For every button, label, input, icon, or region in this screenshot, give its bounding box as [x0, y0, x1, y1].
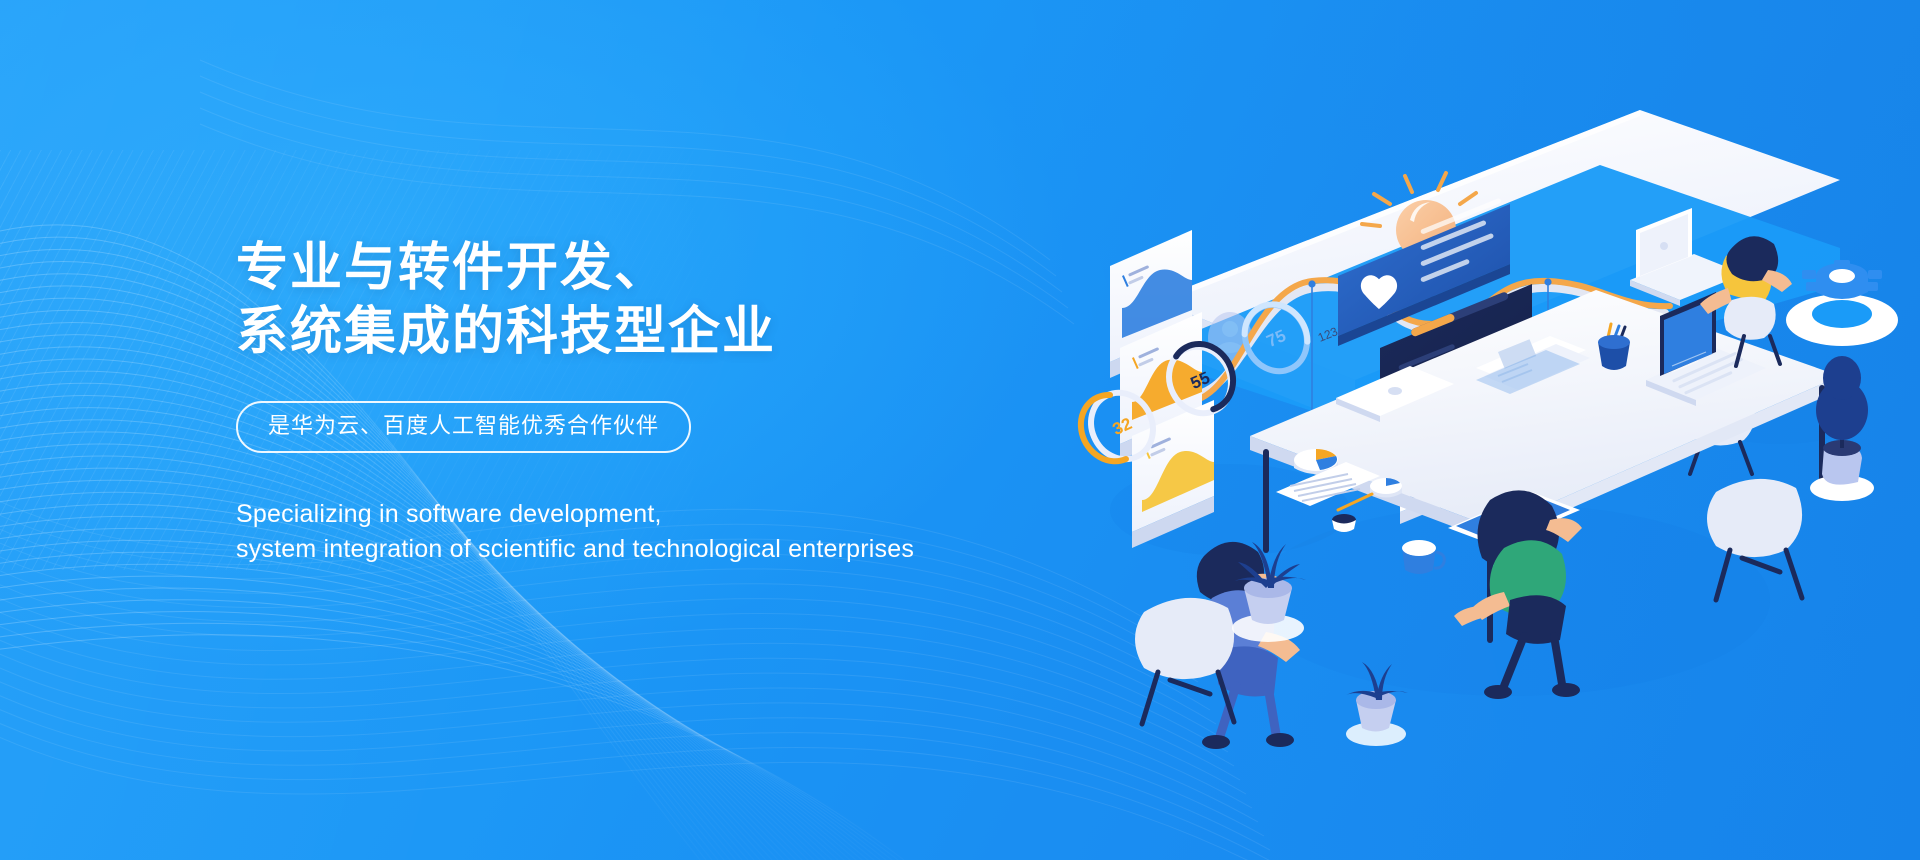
- headline-line-2: 系统集成的科技型企业: [236, 300, 1116, 364]
- gear-icon: [1786, 260, 1898, 346]
- pie-chart-model: [1370, 478, 1402, 498]
- headline-line-1: 专业与转件开发、: [236, 236, 1116, 300]
- hero-subtitle: Specializing in software development, sy…: [236, 497, 1116, 568]
- office-chair: [1135, 598, 1234, 724]
- hero-copy: 专业与转件开发、 系统集成的科技型企业 是华为云、百度人工智能优秀合作伙伴 Sp…: [236, 236, 1116, 568]
- partner-badge[interactable]: 是华为云、百度人工智能优秀合作伙伴: [236, 401, 691, 453]
- coffee-mug: [1332, 514, 1356, 532]
- subtitle-line-1: Specializing in software development,: [236, 497, 1116, 533]
- hero-illustration: 65 123 97 81: [1080, 80, 1920, 780]
- hero-banner: 专业与转件开发、 系统集成的科技型企业 是华为云、百度人工智能优秀合作伙伴 Sp…: [0, 0, 1920, 860]
- subtitle-line-2: system integration of scientific and tec…: [236, 532, 1116, 568]
- page-title: 专业与转件开发、 系统集成的科技型企业: [236, 236, 1116, 365]
